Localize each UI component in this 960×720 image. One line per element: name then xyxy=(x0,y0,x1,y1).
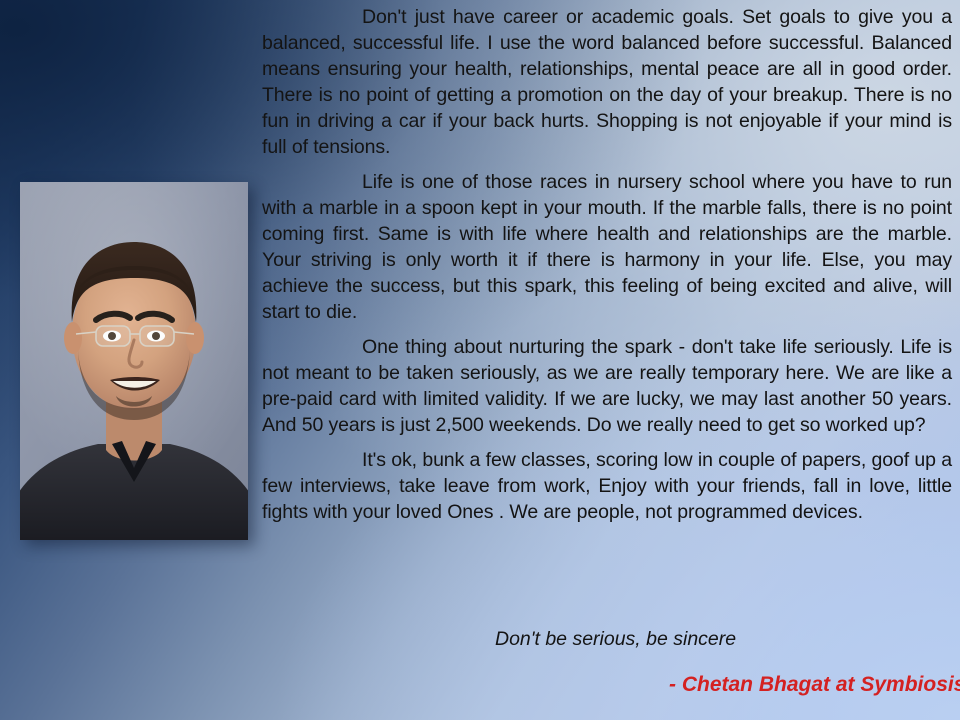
paragraph-3: One thing about nurturing the spark - do… xyxy=(262,334,952,438)
quote-body: Don't just have career or academic goals… xyxy=(262,4,952,525)
slide-canvas: Don't just have career or academic goals… xyxy=(0,0,960,720)
portrait-photo xyxy=(20,182,248,540)
paragraph-2: Life is one of those races in nursery sc… xyxy=(262,169,952,325)
portrait-illustration xyxy=(20,182,248,540)
attribution: - Chetan Bhagat at Symbiosis xyxy=(669,673,960,697)
paragraph-4: It's ok, bunk a few classes, scoring low… xyxy=(262,447,952,525)
tagline: Don't be serious, be sincere xyxy=(495,628,736,651)
paragraph-1: Don't just have career or academic goals… xyxy=(262,4,952,160)
